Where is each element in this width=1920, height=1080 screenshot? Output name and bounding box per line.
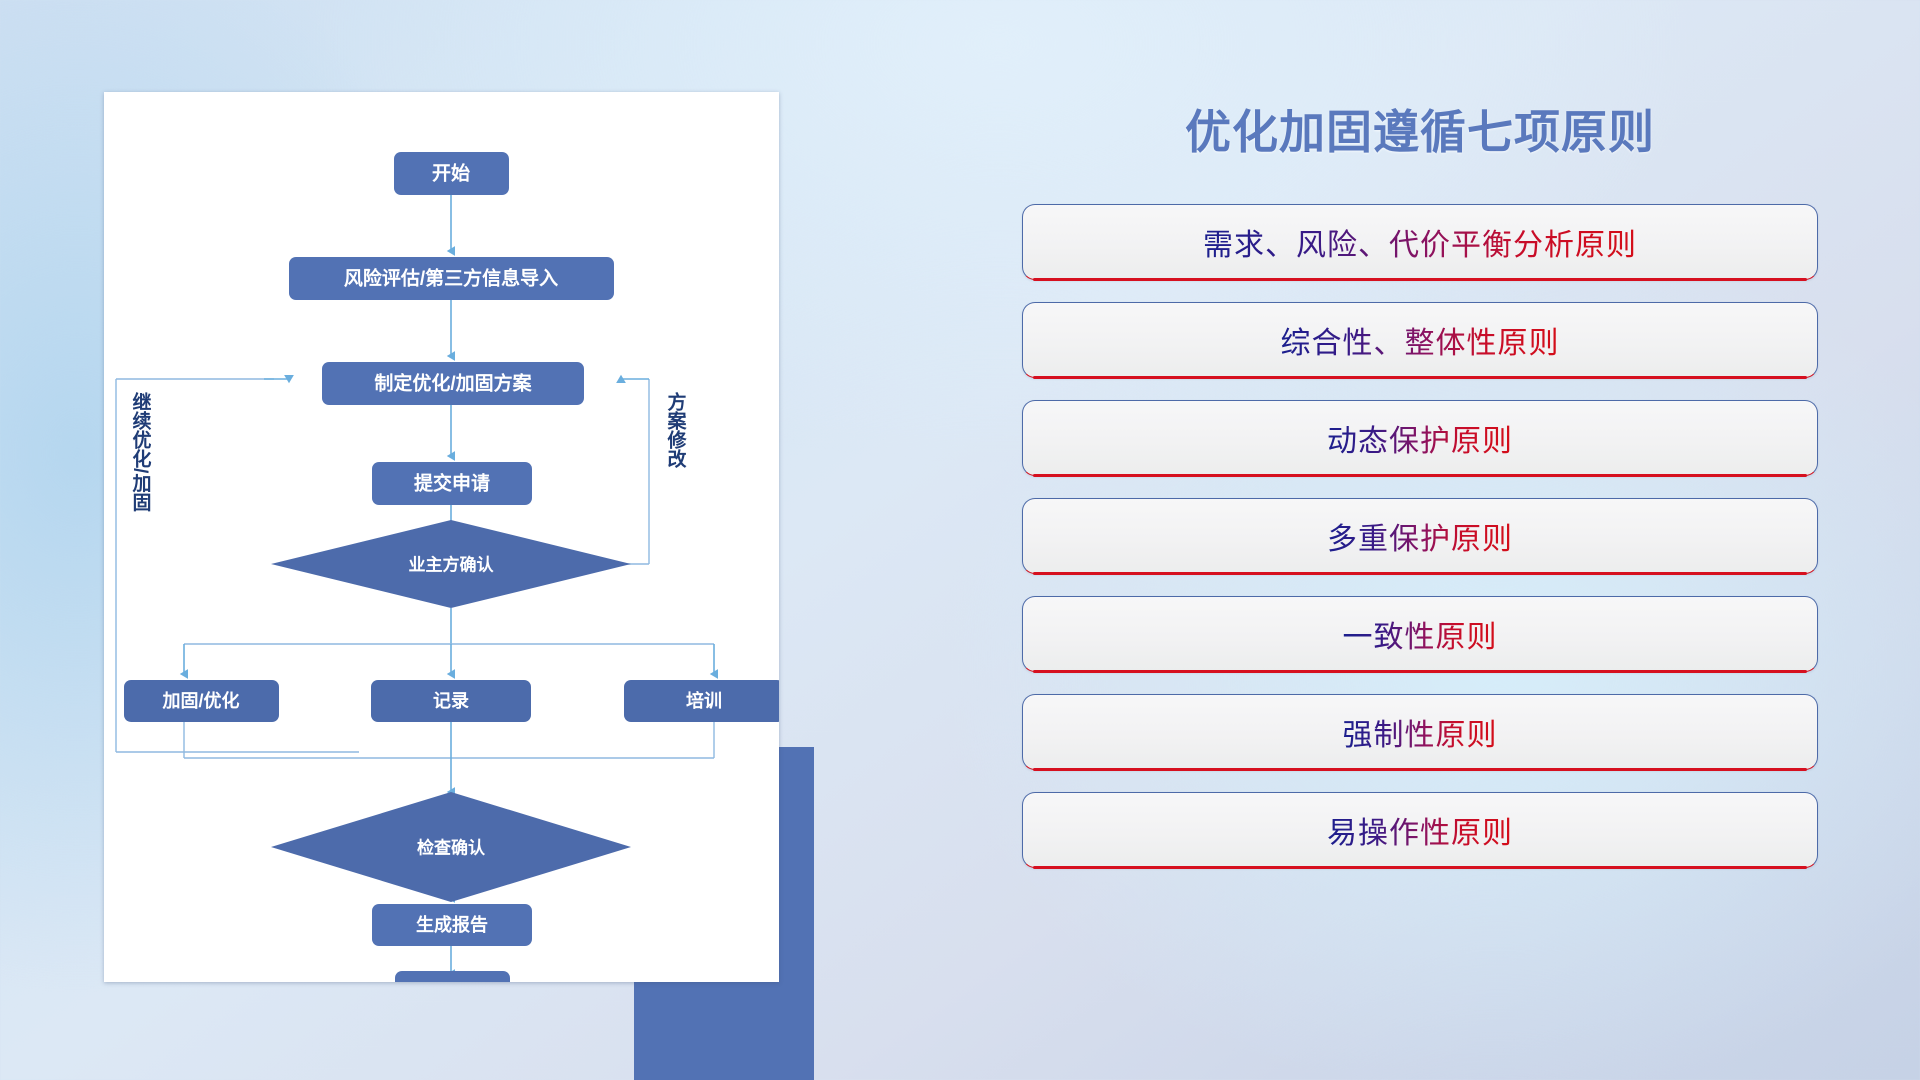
principle-item-1-label: 需求、风险、代价平衡分析原则 [1203, 220, 1637, 264]
flowchart-svg: 开始 风险评估/第三方信息导入 制定优化/加固方案 提交申请 业主方确认 [104, 92, 779, 982]
flow-node-training-label: 培训 [686, 690, 722, 711]
flow-node-end[interactable]: 结束 [395, 971, 510, 982]
flow-node-risk-assessment[interactable]: 风险评估/第三方信息导入 [289, 257, 614, 300]
flowchart-card: 开始 风险评估/第三方信息导入 制定优化/加固方案 提交申请 业主方确认 [104, 92, 779, 982]
principle-list: 需求、风险、代价平衡分析原则 综合性、整体性原则 动态保护原则 多重保护原则 一… [1022, 204, 1818, 890]
flow-node-submit-label: 提交申请 [414, 472, 490, 495]
edge-label-plan-revision: 方案修改 [665, 391, 688, 469]
flow-node-record-label: 记录 [433, 691, 469, 711]
principle-item-2[interactable]: 综合性、整体性原则 [1022, 302, 1818, 378]
principle-item-3[interactable]: 动态保护原则 [1022, 400, 1818, 476]
flow-node-check-confirm[interactable]: 检查确认 [271, 792, 631, 902]
flow-node-end-label: 结束 [434, 981, 471, 982]
principle-item-4-label: 多重保护原则 [1327, 514, 1513, 558]
principle-item-3-label: 动态保护原则 [1327, 416, 1513, 460]
principle-item-7-label: 易操作性原则 [1327, 808, 1513, 852]
flow-node-plan-label: 制定优化/加固方案 [374, 372, 532, 395]
panel-title: 优化加固遵循七项原则 [1020, 96, 1820, 162]
flow-node-owner-confirm[interactable]: 业主方确认 [271, 520, 631, 608]
flow-node-owner-confirm-label: 业主方确认 [409, 555, 495, 575]
flow-node-plan[interactable]: 制定优化/加固方案 [322, 362, 584, 405]
flow-node-report[interactable]: 生成报告 [372, 904, 532, 946]
principle-item-7[interactable]: 易操作性原则 [1022, 792, 1818, 868]
flowchart-panel: 开始 风险评估/第三方信息导入 制定优化/加固方案 提交申请 业主方确认 [104, 92, 794, 972]
principle-item-4[interactable]: 多重保护原则 [1022, 498, 1818, 574]
flow-node-training[interactable]: 培训 [624, 680, 779, 722]
principle-item-5[interactable]: 一致性原则 [1022, 596, 1818, 672]
flow-node-reinforce-label: 加固/优化 [161, 690, 239, 711]
principle-item-5-label: 一致性原则 [1343, 612, 1498, 656]
principle-item-1[interactable]: 需求、风险、代价平衡分析原则 [1022, 204, 1818, 280]
flow-node-start-label: 开始 [432, 162, 470, 185]
principles-panel: 优化加固遵循七项原则 需求、风险、代价平衡分析原则 综合性、整体性原则 动态保护… [1020, 96, 1820, 1006]
flow-node-record[interactable]: 记录 [371, 680, 531, 722]
flow-node-report-label: 生成报告 [416, 914, 488, 935]
principle-item-6-label: 强制性原则 [1343, 710, 1498, 754]
edge-label-continue-optimize: 继续优化/加固 [130, 391, 153, 512]
flow-node-check-confirm-label: 检查确认 [417, 838, 486, 858]
flow-node-reinforce[interactable]: 加固/优化 [124, 680, 279, 722]
flow-node-submit[interactable]: 提交申请 [372, 462, 532, 505]
principle-item-6[interactable]: 强制性原则 [1022, 694, 1818, 770]
principle-item-2-label: 综合性、整体性原则 [1281, 318, 1560, 362]
flow-node-start[interactable]: 开始 [394, 152, 509, 195]
flow-node-risk-assessment-label: 风险评估/第三方信息导入 [344, 267, 558, 290]
